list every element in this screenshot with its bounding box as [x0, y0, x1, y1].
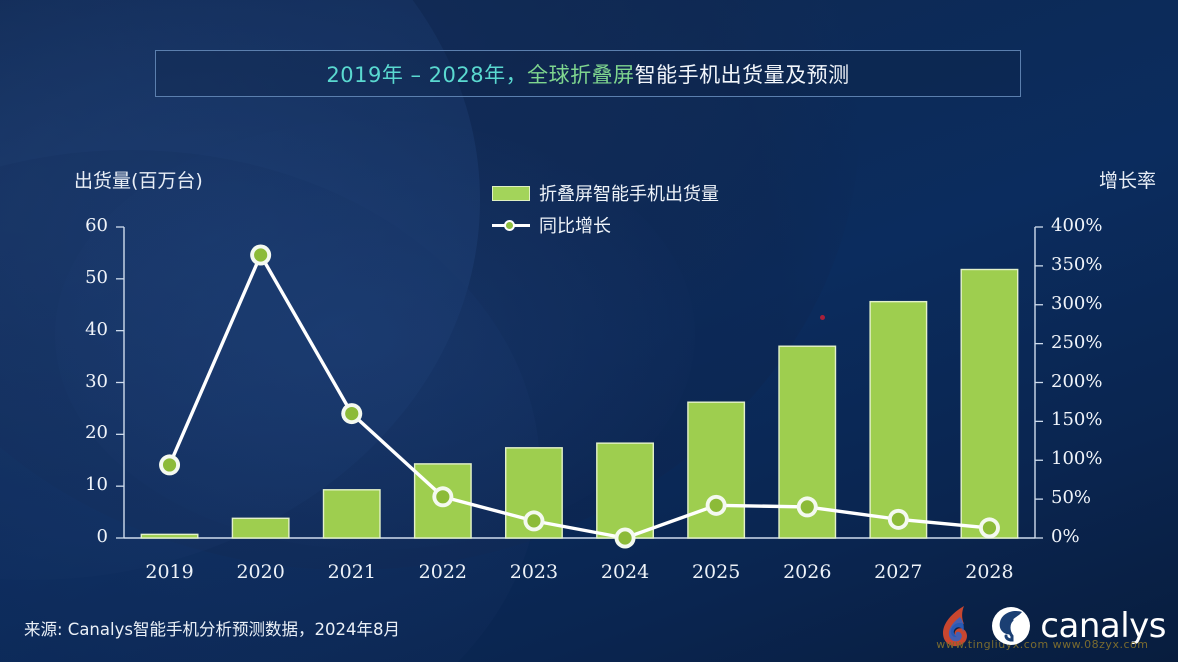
stray-red-dot	[820, 315, 825, 320]
y-axis-left-tick-label: 20	[20, 422, 108, 443]
bar-2028	[961, 270, 1017, 538]
line-marker-2025	[710, 499, 723, 512]
line-marker-2027	[892, 513, 905, 526]
watermark-text: www.tingliuyx.com www.08zyx.com	[936, 638, 1148, 651]
plot-area	[124, 227, 1035, 538]
y-axis-left-title: 出货量(百万台)	[74, 166, 203, 193]
line-marker-2020	[254, 248, 267, 261]
watermark-flame-icon: www.tingliuyx.com www.08zyx.com	[934, 603, 978, 649]
x-axis-tick-label-2027: 2027	[853, 561, 943, 583]
canalys-mark-icon	[988, 603, 1034, 649]
chart-title-box: 2019年 – 2028年，全球折叠屏智能手机出货量及预测	[155, 50, 1021, 97]
plot-svg	[124, 227, 1035, 538]
legend-item-bar[interactable]: 折叠屏智能手机出货量	[492, 180, 719, 206]
line-marker-2026	[801, 500, 814, 513]
line-marker-2023	[527, 514, 540, 527]
x-axis-tick-label-2028: 2028	[944, 561, 1034, 583]
y-axis-right-tick-label: 200%	[1051, 371, 1143, 392]
y-axis-left-tick-label: 40	[20, 319, 108, 340]
y-axis-right-tick-label: 100%	[1051, 448, 1143, 469]
bar-2027	[870, 302, 926, 538]
title-year-range: 2019年 – 2028年，	[326, 63, 527, 87]
line-marker-2028	[983, 521, 996, 534]
x-axis-tick-label-2019: 2019	[125, 561, 215, 583]
bar-2025	[688, 402, 744, 538]
y-axis-left-tick-label: 30	[20, 371, 108, 392]
source-note: 来源: Canalys智能手机分析预测数据，2024年8月	[24, 616, 400, 640]
x-axis-tick-label-2025: 2025	[671, 561, 761, 583]
branding-area: www.tingliuyx.com www.08zyx.com canalys	[934, 598, 1166, 654]
x-axis-tick-label-2021: 2021	[307, 561, 397, 583]
legend-bar-label: 折叠屏智能手机出货量	[539, 180, 719, 206]
x-axis-tick-label-2023: 2023	[489, 561, 579, 583]
growth-line	[170, 255, 990, 538]
line-marker-2021	[345, 407, 358, 420]
y-axis-right-tick-label: 150%	[1051, 409, 1143, 430]
x-axis-tick-label-2026: 2026	[762, 561, 852, 583]
y-axis-left-tick-label: 10	[20, 474, 108, 495]
bar-2024	[597, 443, 653, 538]
x-axis-tick-label-2024: 2024	[580, 561, 670, 583]
line-marker-2024	[618, 531, 631, 544]
y-axis-right-tick-label: 250%	[1051, 332, 1143, 353]
line-marker-2019	[163, 458, 176, 471]
line-marker-2022	[436, 490, 449, 503]
y-axis-left-tick-label: 50	[20, 267, 108, 288]
y-axis-right-tick-label: 350%	[1051, 254, 1143, 275]
chart-canvas: 2019年 – 2028年，全球折叠屏智能手机出货量及预测 出货量(百万台) 增…	[0, 0, 1178, 662]
bar-2020	[232, 518, 288, 538]
legend-bar-swatch-icon	[492, 186, 530, 201]
y-axis-right-tick-label: 0%	[1051, 526, 1143, 547]
y-axis-right-tick-label: 300%	[1051, 293, 1143, 314]
x-axis-tick-label-2020: 2020	[216, 561, 306, 583]
x-axis-tick-label-2022: 2022	[398, 561, 488, 583]
page-title: 2019年 – 2028年，全球折叠屏智能手机出货量及预测	[326, 59, 849, 89]
title-end: 智能手机出货量及预测	[635, 63, 850, 87]
y-axis-right-tick-label: 400%	[1051, 215, 1143, 236]
y-axis-left-tick-label: 0	[20, 526, 108, 547]
y-axis-right-tick-label: 50%	[1051, 487, 1143, 508]
bar-2019	[141, 534, 197, 538]
y-axis-right-title: 增长率	[1099, 166, 1156, 193]
y-axis-left-tick-label: 60	[20, 215, 108, 236]
bar-2021	[324, 490, 380, 538]
title-middle: 全球折叠屏	[527, 63, 635, 87]
